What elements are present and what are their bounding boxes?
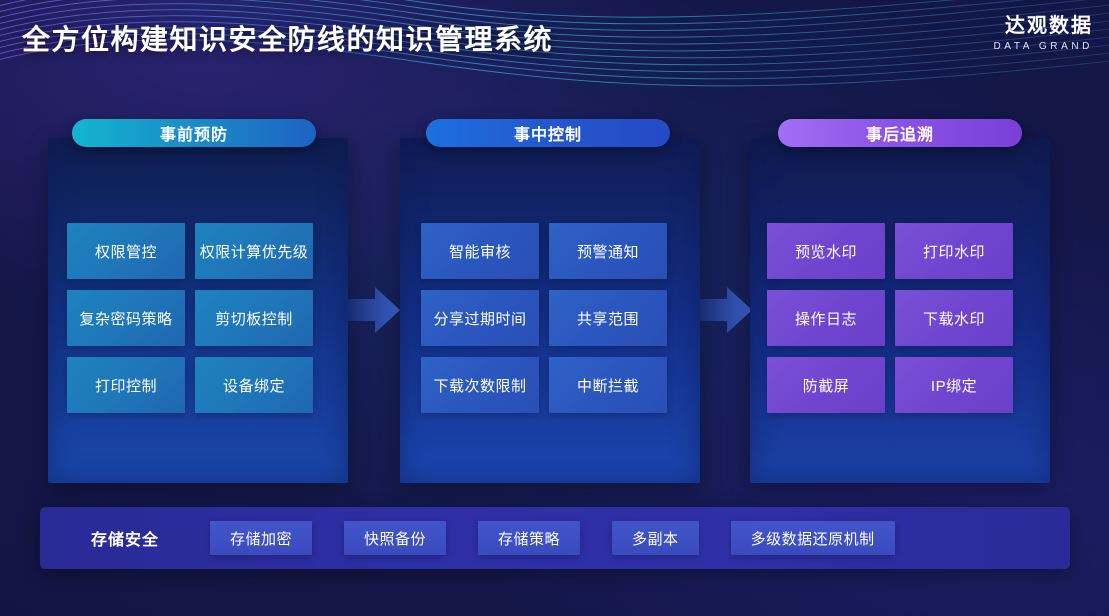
storage-chip[interactable]: 多级数据还原机制 (731, 521, 895, 555)
feature-card[interactable]: 复杂密码策略 (67, 290, 185, 346)
feature-card[interactable]: 权限计算优先级 (195, 223, 313, 279)
feature-card[interactable]: 预警通知 (549, 223, 667, 279)
storage-chip[interactable]: 快照备份 (344, 521, 446, 555)
stage-title-pre-prevention: 事前预防 (72, 119, 316, 147)
feature-card[interactable]: 打印控制 (67, 357, 185, 413)
arrow-stage1-to-stage2 (348, 284, 400, 336)
feature-card[interactable]: 下载次数限制 (421, 357, 539, 413)
stage-title-in-process-control: 事中控制 (426, 119, 670, 147)
feature-card[interactable]: 中断拦截 (549, 357, 667, 413)
feature-card[interactable]: 剪切板控制 (195, 290, 313, 346)
feature-card[interactable]: 下载水印 (895, 290, 1013, 346)
feature-card[interactable]: 操作日志 (767, 290, 885, 346)
feature-card[interactable]: 智能审核 (421, 223, 539, 279)
feature-card[interactable]: 防截屏 (767, 357, 885, 413)
stage-title-post-tracing: 事后追溯 (778, 119, 1022, 147)
storage-chip[interactable]: 存储加密 (210, 521, 312, 555)
feature-card[interactable]: 打印水印 (895, 223, 1013, 279)
feature-card[interactable]: 设备绑定 (195, 357, 313, 413)
storage-security-label: 存储安全 (40, 526, 210, 550)
feature-card[interactable]: 权限管控 (67, 223, 185, 279)
feature-card[interactable]: 预览水印 (767, 223, 885, 279)
feature-card[interactable]: 分享过期时间 (421, 290, 539, 346)
storage-chip[interactable]: 多副本 (612, 521, 699, 555)
storage-chip[interactable]: 存储策略 (478, 521, 580, 555)
card-grid-in-process-control: 智能审核 预警通知 分享过期时间 共享范围 下载次数限制 中断拦截 (421, 223, 667, 413)
slide-canvas: 全方位构建知识安全防线的知识管理系统 达观数据 DATA GRAND 事前预防 … (0, 0, 1109, 616)
card-grid-post-tracing: 预览水印 打印水印 操作日志 下载水印 防截屏 IP绑定 (767, 223, 1013, 413)
logo-text-cn: 达观数据 (993, 14, 1093, 39)
storage-chip-list: 存储加密 快照备份 存储策略 多副本 多级数据还原机制 (210, 521, 1070, 555)
arrow-stage2-to-stage3 (700, 284, 752, 336)
brand-logo: 达观数据 DATA GRAND (993, 14, 1093, 52)
storage-security-bar: 存储安全 存储加密 快照备份 存储策略 多副本 多级数据还原机制 (40, 507, 1070, 569)
page-title: 全方位构建知识安全防线的知识管理系统 (22, 18, 553, 58)
feature-card[interactable]: IP绑定 (895, 357, 1013, 413)
feature-card[interactable]: 共享范围 (549, 290, 667, 346)
logo-text-en: DATA GRAND (993, 41, 1093, 52)
card-grid-pre-prevention: 权限管控 权限计算优先级 复杂密码策略 剪切板控制 打印控制 设备绑定 (67, 223, 313, 413)
